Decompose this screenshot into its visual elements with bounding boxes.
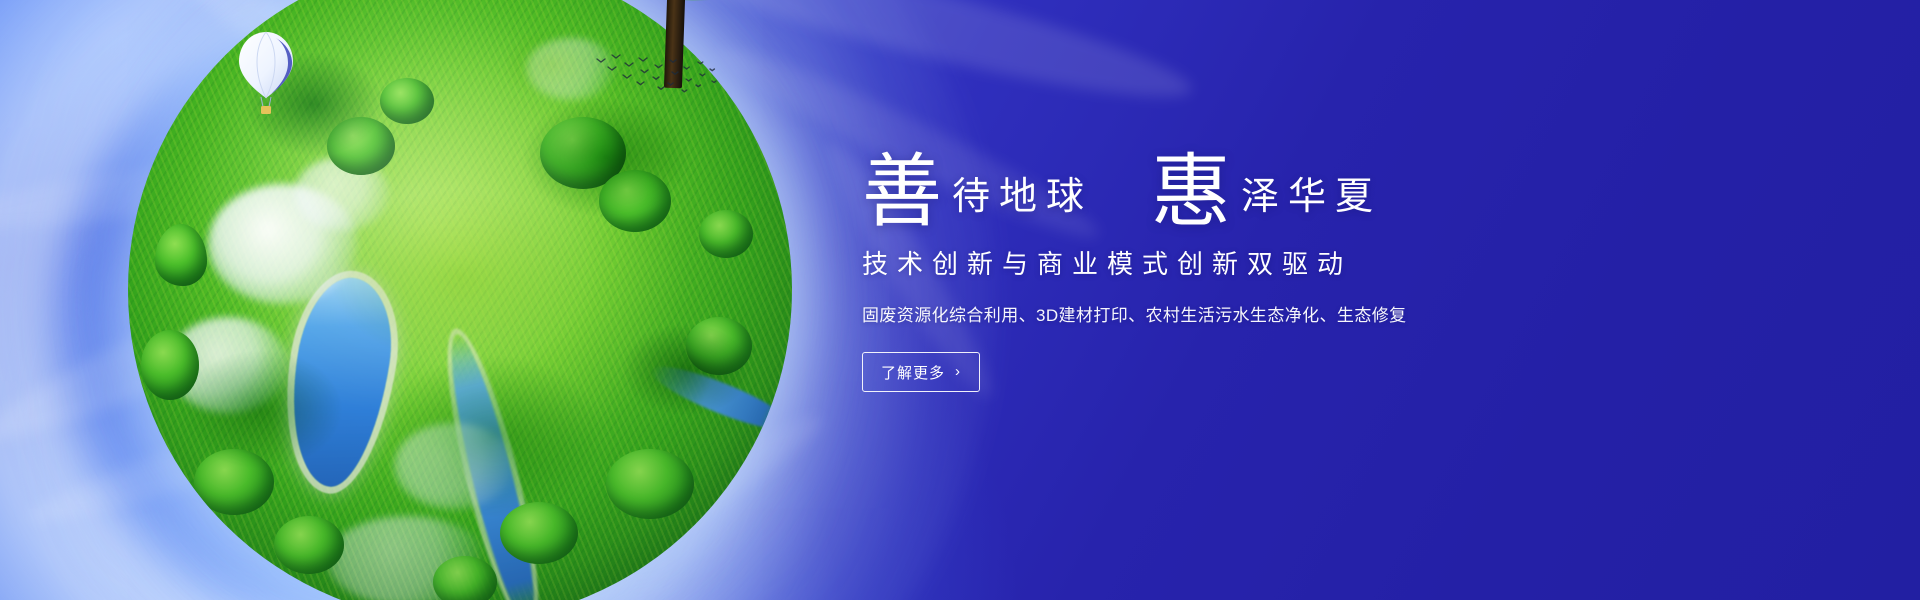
headline: 善 待地球 惠 泽华夏 bbox=[862, 132, 1842, 224]
planet-tree-canopy bbox=[274, 516, 344, 574]
planet-tree-canopy bbox=[606, 449, 694, 519]
planet-tree-canopy bbox=[699, 210, 753, 258]
planet-tree-canopy bbox=[540, 117, 626, 189]
planet-tree-canopy bbox=[380, 78, 434, 124]
hero-banner: 善 待地球 惠 泽华夏 技术创新与商业模式创新双驱动 固废资源化综合利用、3D建… bbox=[0, 0, 1920, 600]
planet-tree-canopy bbox=[500, 502, 578, 564]
planet-cloud bbox=[294, 157, 390, 231]
planet-cloud bbox=[168, 317, 288, 413]
planet-cloud bbox=[208, 184, 358, 304]
learn-more-button[interactable]: 了解更多 › bbox=[862, 352, 980, 392]
headline-lead-char-2: 惠 bbox=[1151, 155, 1231, 229]
planet-lake bbox=[278, 271, 402, 493]
headline-rest-2: 泽华夏 bbox=[1241, 165, 1382, 220]
planet-tree-canopy bbox=[155, 224, 207, 286]
planet-tree-canopy bbox=[141, 330, 199, 400]
planet-river bbox=[438, 329, 549, 600]
hero-copy: 善 待地球 惠 泽华夏 技术创新与商业模式创新双驱动 固废资源化综合利用、3D建… bbox=[862, 132, 1842, 392]
planet-cloud bbox=[327, 516, 487, 600]
planet-tree-canopy bbox=[327, 117, 395, 175]
headline-phrase-1: 善 待地球 bbox=[862, 149, 1093, 224]
headline-phrase-2: 惠 泽华夏 bbox=[1151, 149, 1382, 224]
planet-tree-canopy bbox=[433, 556, 497, 600]
planet-cloud bbox=[394, 423, 514, 509]
planet-tree-canopy bbox=[686, 317, 752, 375]
hot-air-balloon bbox=[236, 30, 296, 121]
learn-more-label: 了解更多 bbox=[881, 362, 945, 383]
planet-tree-canopy bbox=[599, 170, 671, 232]
description: 固废资源化综合利用、3D建材打印、农村生活污水生态净化、生态修复 bbox=[862, 301, 1842, 326]
subtitle: 技术创新与商业模式创新双驱动 bbox=[862, 244, 1842, 281]
bird-flock bbox=[594, 52, 720, 103]
headline-rest-1: 待地球 bbox=[952, 165, 1093, 220]
chevron-right-icon: › bbox=[955, 364, 961, 379]
planet-river-secondary bbox=[646, 356, 792, 440]
headline-lead-char-1: 善 bbox=[862, 155, 942, 229]
planet-tree-canopy bbox=[194, 449, 274, 515]
